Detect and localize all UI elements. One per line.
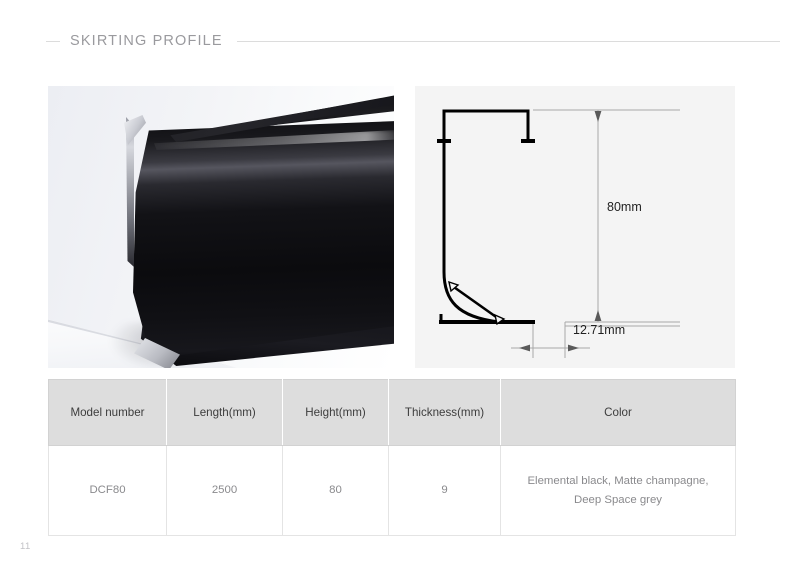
page-number: 11 [20,541,31,552]
depth-dimension-label: 12.71mm [573,323,625,337]
product-front-face [133,121,394,359]
cell-color: Elemental black, Matte champagne, Deep S… [501,446,736,536]
table-row: DCF80 2500 80 9 Elemental black, Matte c… [49,446,736,536]
profile-stiffening-rib [451,285,499,319]
dimension-arrowheads [519,111,601,351]
column-header-thickness: Thickness(mm) [389,380,501,446]
table-header-row: Model number Length(mm) Height(mm) Thick… [49,380,736,446]
section-title-bar: SKIRTING PROFILE [46,30,780,52]
specification-table: Model number Length(mm) Height(mm) Thick… [48,379,736,536]
column-header-length: Length(mm) [167,380,283,446]
column-header-height: Height(mm) [283,380,389,446]
cell-length: 2500 [167,446,283,536]
column-header-color: Color [501,380,736,446]
product-photo [48,86,394,368]
column-header-model-number: Model number [49,380,167,446]
title-rule-right [237,41,780,42]
catalog-page: SKIRTING PROFILE [0,0,800,565]
cell-thickness: 9 [389,446,501,536]
cell-height: 80 [283,446,389,536]
profile-base-foot [439,314,535,322]
cell-model-number: DCF80 [49,446,167,536]
title-rule-left [46,41,60,42]
technical-drawing: 80mm 12.71mm [415,86,735,368]
height-dimension-label: 80mm [607,200,642,214]
page-title: SKIRTING PROFILE [70,33,223,49]
